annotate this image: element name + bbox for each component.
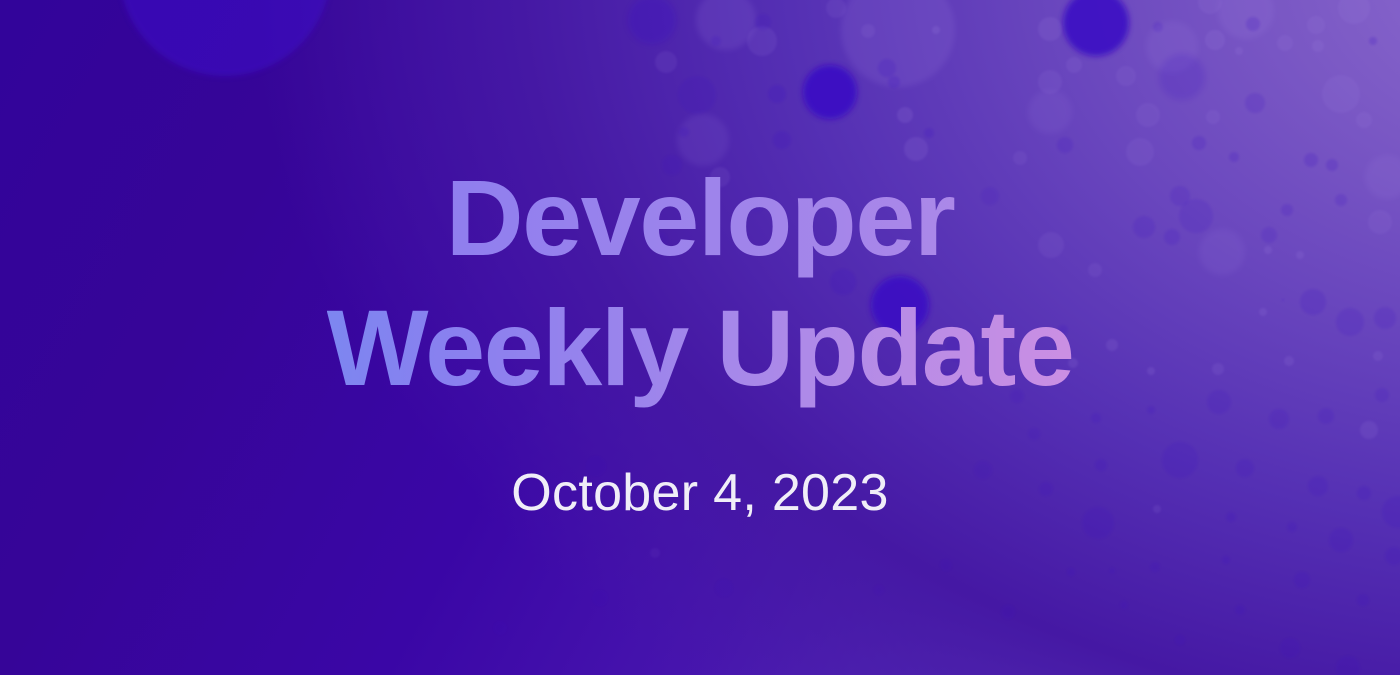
page-title: Developer Weekly Update: [327, 153, 1074, 412]
headline-line-1: Developer: [327, 153, 1074, 283]
headline-line-2: Weekly Update: [327, 283, 1074, 413]
slide-content: Developer Weekly Update October 4, 2023: [0, 0, 1400, 675]
title-slide: Developer Weekly Update October 4, 2023: [0, 0, 1400, 675]
slide-date: October 4, 2023: [511, 465, 888, 522]
